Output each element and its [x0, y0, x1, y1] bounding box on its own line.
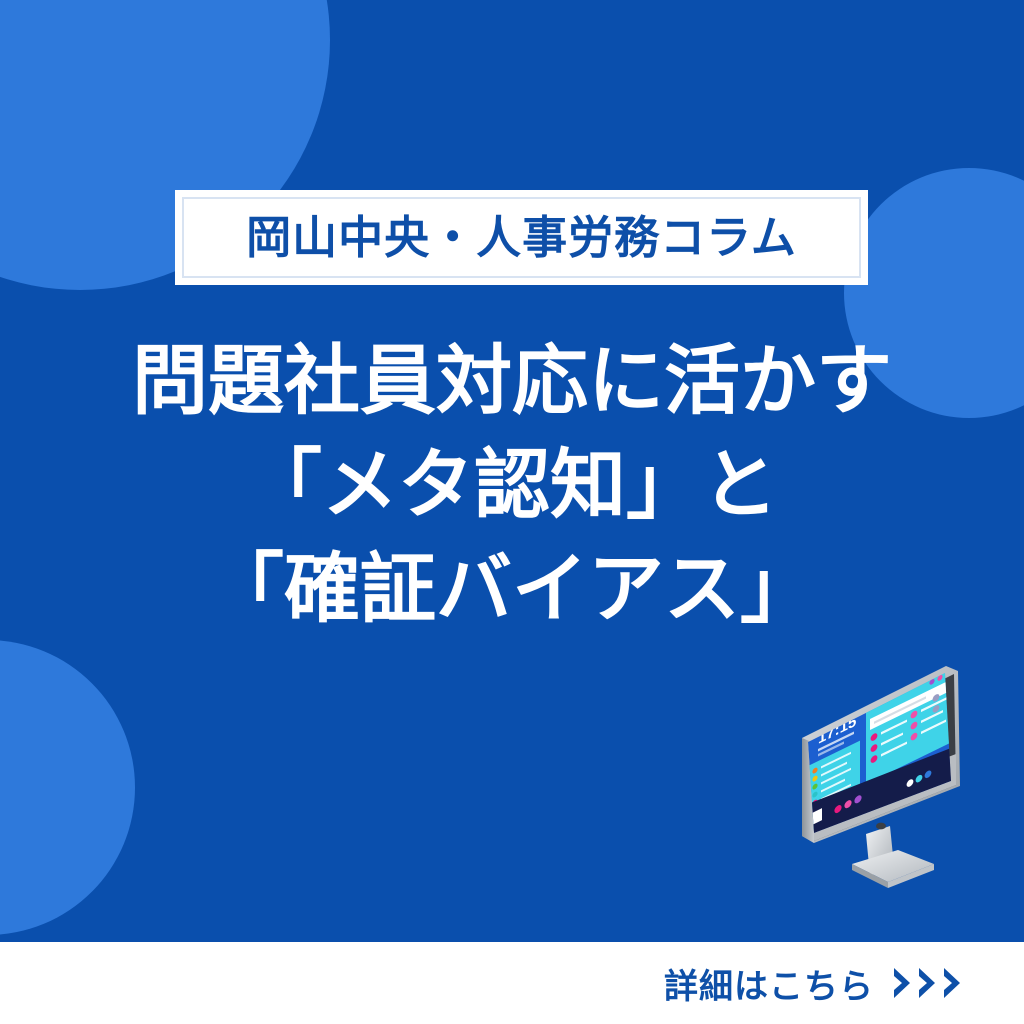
read-more-link[interactable]: 詳細はこちら — [664, 959, 964, 1008]
read-more-label: 詳細はこちら — [664, 959, 874, 1008]
footer-bar: 詳細はこちら — [0, 942, 1024, 1024]
desktop-monitor-illustration: 17:15 — [778, 638, 1024, 900]
category-badge: 岡山中央・人事労務コラム — [175, 190, 868, 285]
headline-line-2: 「メタ認知」と — [0, 434, 1024, 538]
chevron-right-icon-group — [892, 966, 964, 1000]
monitor-stand — [852, 826, 934, 888]
category-badge-inner: 岡山中央・人事労務コラム — [182, 197, 861, 278]
monitor-power-indicator — [876, 823, 886, 830]
category-badge-label: 岡山中央・人事労務コラム — [246, 215, 797, 260]
chevron-right-icon — [892, 966, 914, 1000]
headline-line-1: 問題社員対応に活かす — [0, 330, 1024, 434]
poster-canvas: 岡山中央・人事労務コラム 問題社員対応に活かす 「メタ認知」と 「確証バイアス」 — [0, 0, 1024, 1024]
chevron-right-icon — [942, 966, 964, 1000]
decorative-circle-bottom-left — [0, 640, 135, 935]
page-title: 問題社員対応に活かす 「メタ認知」と 「確証バイアス」 — [0, 330, 1024, 642]
chevron-right-icon — [917, 966, 939, 1000]
headline-line-3: 「確証バイアス」 — [0, 538, 1024, 642]
